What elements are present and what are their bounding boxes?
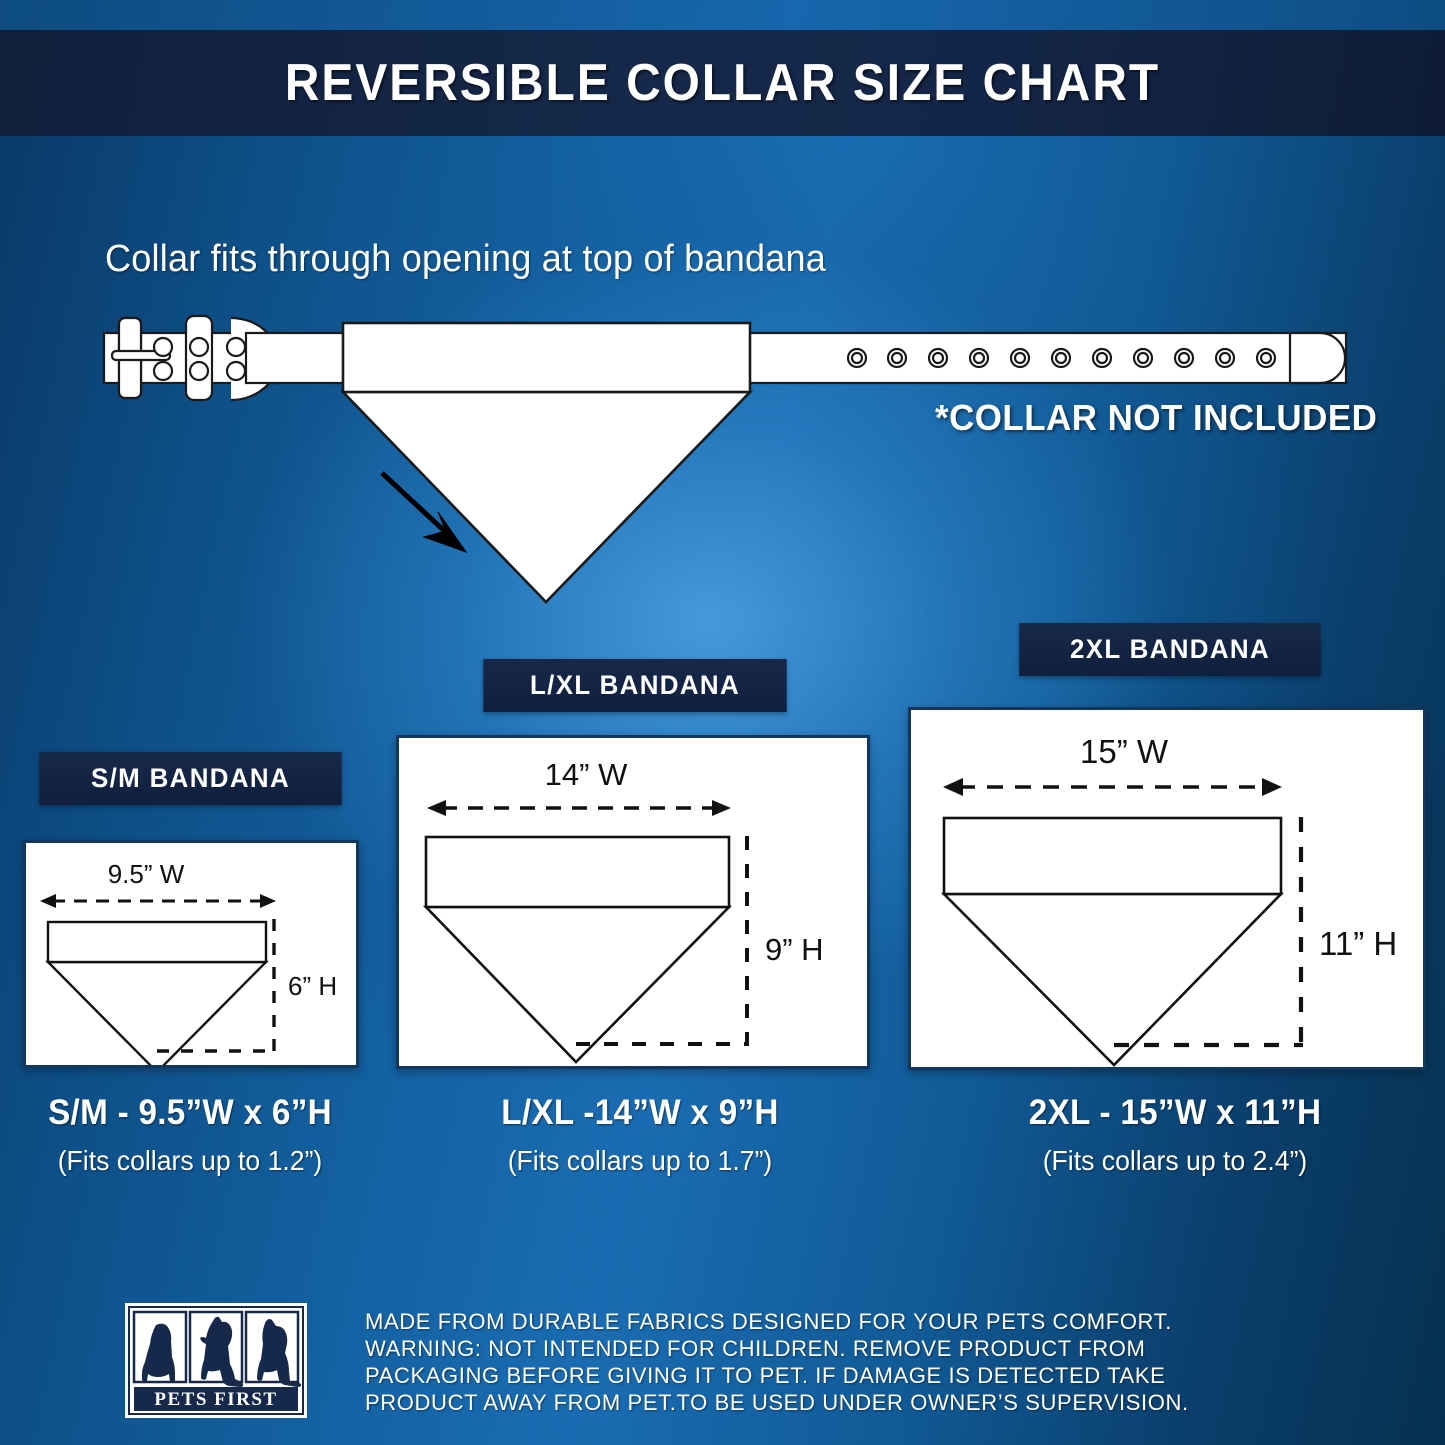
caption-2xl-main: 2XL - 15”W x 11”H	[995, 1093, 1356, 1133]
fine-print: MADE FROM DURABLE FABRICS DESIGNED FOR Y…	[365, 1308, 1335, 1416]
size-chart-page: REVERSIBLE COLLAR SIZE CHART Collar fits…	[0, 0, 1445, 1445]
banner-2xl: 2XL BANDANA	[1019, 623, 1320, 676]
banner-lxl: L/XL BANDANA	[483, 659, 786, 712]
bandana-shape	[343, 323, 750, 602]
caption-sm-main: S/M - 9.5”W x 6”H	[10, 1093, 371, 1133]
fine-print-line-2: WARNING: NOT INTENDED FOR CHILDREN. REMO…	[365, 1335, 1335, 1362]
lxl-height-label: 9” H	[765, 932, 824, 967]
xxl-height-label: 11” H	[1319, 925, 1397, 962]
caption-2xl-sub: (Fits collars up to 2.4”)	[995, 1145, 1356, 1177]
sizebox-2xl: 15” W 11” H	[908, 707, 1426, 1070]
collar-bandana-illustration	[0, 190, 1445, 620]
banner-2xl-label: 2XL BANDANA	[1070, 634, 1270, 665]
lxl-width-label: 14” W	[545, 757, 628, 792]
sizebox-lxl: 14” W 9” H	[396, 735, 870, 1069]
fine-print-line-4: PRODUCT AWAY FROM PET.TO BE USED UNDER O…	[365, 1389, 1335, 1416]
logo-wordmark: PETS FIRST	[154, 1389, 277, 1410]
caption-sm-sub: (Fits collars up to 1.2”)	[10, 1145, 371, 1177]
sm-width-label: 9.5” W	[108, 859, 185, 889]
xxl-width-label: 15” W	[1080, 733, 1169, 770]
pets-first-logo: PETS FIRST	[125, 1303, 307, 1418]
sizebox-sm: 9.5” W 6” H	[23, 840, 359, 1068]
fine-print-line-3: PACKAGING BEFORE GIVING IT TO PET. IF DA…	[365, 1362, 1335, 1389]
banner-sm-label: S/M BANDANA	[91, 763, 290, 794]
caption-lxl-sub: (Fits collars up to 1.7”)	[460, 1145, 821, 1177]
sm-height-label: 6” H	[288, 971, 337, 1001]
fine-print-line-1: MADE FROM DURABLE FABRICS DESIGNED FOR Y…	[365, 1308, 1335, 1335]
page-title: REVERSIBLE COLLAR SIZE CHART	[58, 30, 1387, 136]
caption-lxl-main: L/XL -14”W x 9”H	[460, 1093, 821, 1133]
banner-lxl-label: L/XL BANDANA	[530, 670, 740, 701]
caption-2xl: 2XL - 15”W x 11”H (Fits collars up to 2.…	[985, 1093, 1365, 1177]
caption-lxl: L/XL -14”W x 9”H (Fits collars up to 1.7…	[450, 1093, 830, 1177]
banner-sm: S/M BANDANA	[39, 752, 341, 805]
top-strip	[0, 0, 1445, 30]
caption-sm: S/M - 9.5”W x 6”H (Fits collars up to 1.…	[0, 1093, 380, 1177]
